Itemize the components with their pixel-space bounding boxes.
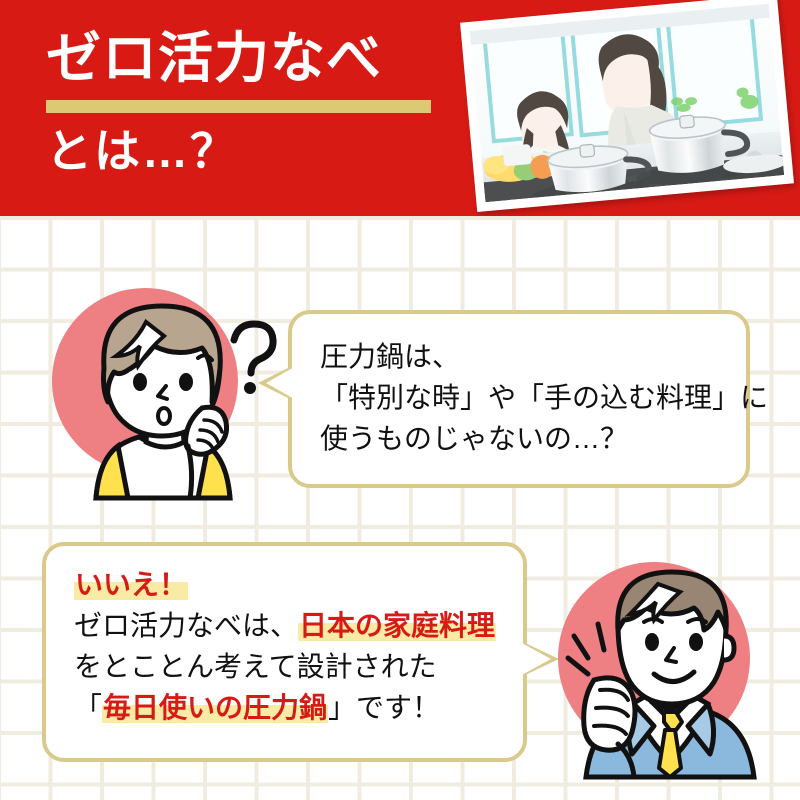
bubble-question-text: 圧力鍋は、 「特別な時」や「手の込む料理」に 使うものじゃないの…？	[320, 336, 768, 459]
speech-bubble-question: 圧力鍋は、 「特別な時」や「手の込む料理」に 使うものじゃないの…？	[288, 310, 750, 488]
woman-thinking-avatar	[52, 288, 238, 474]
eye-right-icon	[179, 373, 193, 391]
bubble2-exclaim: いいえ！	[74, 569, 188, 600]
eye-left-icon	[645, 633, 659, 651]
bubble-tail-inner	[520, 642, 551, 676]
bubble1-line-3: 使うものじゃないの…？	[320, 418, 768, 459]
page-title: ゼロ活力なべ	[46, 30, 466, 88]
title-underline-bar	[46, 100, 431, 113]
bubble1-line-1: 圧力鍋は、	[320, 336, 768, 377]
title-block: ゼロ活力なべ とは…？	[46, 30, 466, 88]
bubble2-line2-highlight: 日本の家庭料理	[298, 610, 496, 641]
eye-left-icon	[133, 373, 147, 391]
bubble-answer-text: いいえ！ ゼロ活力なべは、日本の家庭料理 をとことん考えて設計された 「毎日使い…	[74, 564, 496, 728]
infographic-page: ゼロ活力なべ とは…？	[0, 0, 800, 800]
bubble1-line-2: 「特別な時」や「手の込む料理」に	[320, 377, 768, 418]
bubble2-line4-highlight: 毎日使いの圧力鍋	[102, 692, 328, 723]
bubble-tail-inner	[266, 366, 296, 400]
question-mark-dot	[244, 382, 256, 394]
speech-bubble-answer: いいえ！ ゼロ活力なべは、日本の家庭料理 をとことん考えて設計された 「毎日使い…	[42, 542, 527, 762]
kitchen-photo-illustration	[470, 4, 784, 202]
bubble2-quote-close: 」です！	[328, 692, 440, 723]
motion-lines-icon	[568, 624, 604, 674]
header-band: ゼロ活力なべ とは…？	[0, 0, 800, 216]
bubble2-line-2: ゼロ活力なべは、日本の家庭料理	[74, 605, 496, 646]
bubble2-line2-plain: ゼロ活力なべは、	[74, 610, 298, 641]
man-confident-avatar	[558, 562, 750, 754]
bubble2-line-4: 「毎日使いの圧力鍋」です！	[74, 687, 496, 728]
page-subtitle: とは…？	[46, 115, 238, 181]
man-illustration	[558, 562, 788, 777]
bubble2-line-3: をとことん考えて設計された	[74, 646, 496, 687]
kitchen-photo	[470, 4, 784, 202]
kitchen-photo-frame	[460, 0, 794, 212]
eye-right-icon	[689, 633, 703, 651]
bubble2-exclaim-line: いいえ！	[74, 564, 496, 605]
bubble2-quote-open: 「	[74, 692, 102, 723]
